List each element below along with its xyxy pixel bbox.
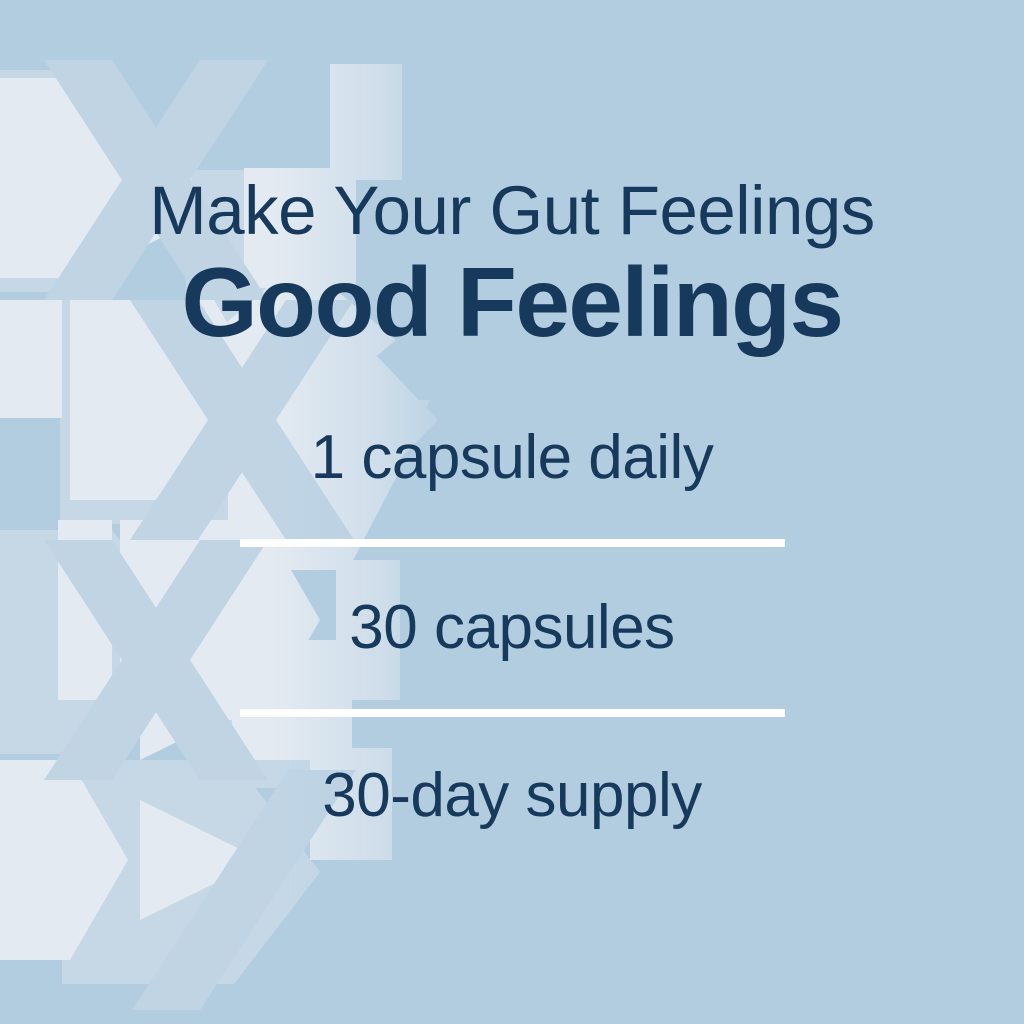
headline-line-1: Make Your Gut Feelings — [0, 176, 1024, 245]
divider-2 — [240, 709, 785, 717]
headline-block: Make Your Gut Feelings Good Feelings — [0, 176, 1024, 355]
fact-supply: 30-day supply — [322, 765, 702, 827]
product-infographic-card: Make Your Gut Feelings Good Feelings 1 c… — [0, 0, 1024, 1024]
fact-count: 30 capsules — [349, 597, 674, 659]
fact-dosage: 1 capsule daily — [311, 427, 714, 489]
headline-line-2: Good Feelings — [0, 251, 1024, 355]
divider-1 — [240, 539, 785, 547]
